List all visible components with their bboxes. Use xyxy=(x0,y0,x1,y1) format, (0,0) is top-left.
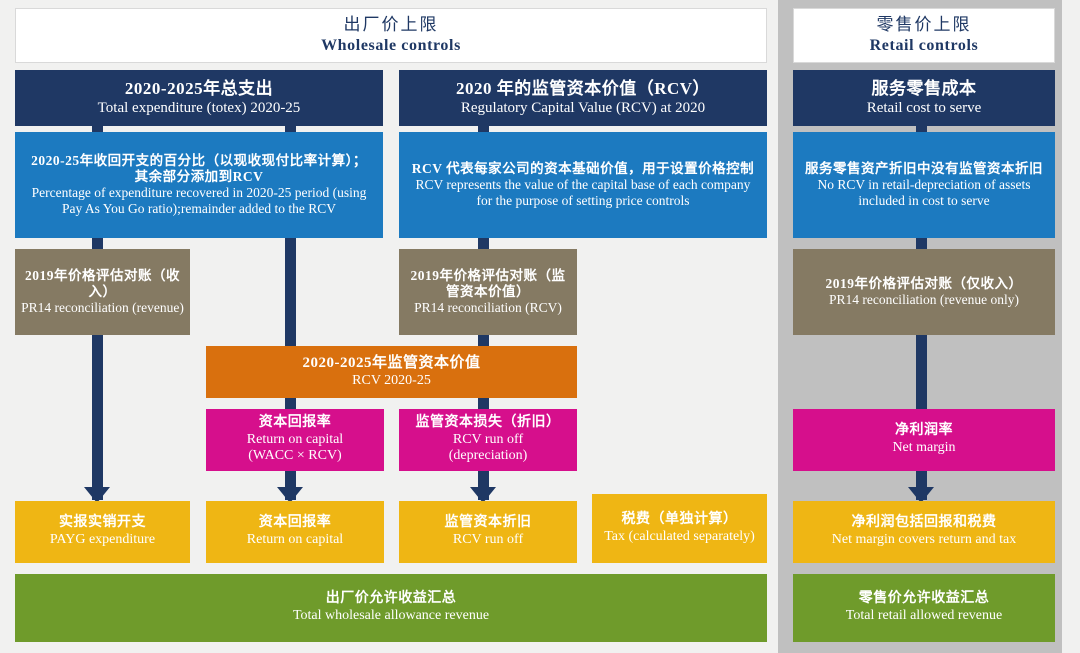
rcv-header-cn: 2020 年的监管资本价值（RCV） xyxy=(456,79,710,99)
tax-en: Tax (calculated separately) xyxy=(604,529,755,546)
rcv-description-box: RCV 代表每家公司的资本基础价值，用于设置价格控制 RCV represent… xyxy=(399,132,767,238)
totex-header-cn: 2020-2025年总支出 xyxy=(125,79,273,99)
retail-cost-description-cn: 服务零售资产折旧中没有监管资本折旧 xyxy=(805,161,1043,177)
rcv-run-off-output-cn: 监管资本折旧 xyxy=(445,515,532,532)
return-on-capital-en: Return on capital xyxy=(247,432,343,449)
net-margin-box: 净利润率 Net margin xyxy=(793,409,1055,471)
total-wholesale-revenue-cn: 出厂价允许收益汇总 xyxy=(326,591,457,608)
rcv-description-en: RCV represents the value of the capital … xyxy=(411,177,755,209)
net-margin-output-cn: 净利润包括回报和税费 xyxy=(852,515,997,532)
tax-box: 税费（单独计算） Tax (calculated separately) xyxy=(592,494,767,563)
total-retail-revenue-cn: 零售价允许收益汇总 xyxy=(859,591,990,608)
total-retail-revenue-box: 零售价允许收益汇总 Total retail allowed revenue xyxy=(793,574,1055,642)
total-retail-revenue-en: Total retail allowed revenue xyxy=(846,608,1002,625)
retail-pr14-en: PR14 reconciliation (revenue only) xyxy=(829,292,1019,308)
rcv-run-off-output-box: 监管资本折旧 RCV run off xyxy=(399,501,577,563)
totex-header-en: Total expenditure (totex) 2020-25 xyxy=(98,100,301,118)
wholesale-title-card: 出厂价上限 Wholesale controls xyxy=(15,8,767,63)
retail-title-en: Retail controls xyxy=(870,37,979,56)
pr14-rcv-cn: 2019年价格评估对账（监管资本价值） xyxy=(405,268,571,300)
total-wholesale-revenue-box: 出厂价允许收益汇总 Total wholesale allowance reve… xyxy=(15,574,767,642)
return-on-capital-box: 资本回报率 Return on capital (WACC × RCV) xyxy=(206,409,384,471)
total-wholesale-revenue-en: Total wholesale allowance revenue xyxy=(293,608,489,625)
rcv-run-off-cn: 监管资本损失（折旧） xyxy=(416,415,561,432)
retail-cost-description-box: 服务零售资产折旧中没有监管资本折旧 No RCV in retail-depre… xyxy=(793,132,1055,238)
totex-header-box: 2020-2025年总支出 Total expenditure (totex) … xyxy=(15,70,383,126)
totex-description-cn: 2020-25年收回开支的百分比（以现收现付比率计算）；其余部分添加到RCV xyxy=(25,153,373,185)
rcv-run-off-note: (depreciation) xyxy=(449,448,528,465)
pr14-rcv-en: PR14 reconciliation (RCV) xyxy=(414,300,562,316)
wholesale-title-cn: 出厂价上限 xyxy=(344,15,439,35)
rcv-2020-25-en: RCV 2020-25 xyxy=(352,373,431,390)
return-on-capital-output-en: Return on capital xyxy=(247,532,343,549)
retail-title-cn: 零售价上限 xyxy=(877,15,972,35)
net-margin-en: Net margin xyxy=(892,440,955,457)
rcv-header-en: Regulatory Capital Value (RCV) at 2020 xyxy=(461,100,705,118)
payg-expenditure-box: 实报实销开支 PAYG expenditure xyxy=(15,501,190,563)
right-margin-strip xyxy=(1062,0,1080,653)
net-margin-cn: 净利润率 xyxy=(895,423,953,440)
totex-description-en: Percentage of expenditure recovered in 2… xyxy=(25,185,373,217)
retail-title-card: 零售价上限 Retail controls xyxy=(793,8,1055,63)
tax-cn: 税费（单独计算） xyxy=(622,512,738,529)
diagram-canvas: 出厂价上限 Wholesale controls 2020-2025年总支出 T… xyxy=(0,0,1080,653)
pr14-revenue-box: 2019年价格评估对账（收入） PR14 reconciliation (rev… xyxy=(15,249,190,335)
net-margin-output-box: 净利润包括回报和税费 Net margin covers return and … xyxy=(793,501,1055,563)
retail-cost-description-en: No RCV in retail-depreciation of assets … xyxy=(803,177,1045,209)
retail-pr14-box: 2019年价格评估对账（仅收入） PR14 reconciliation (re… xyxy=(793,249,1055,335)
return-on-capital-output-cn: 资本回报率 xyxy=(259,515,332,532)
retail-cost-header-cn: 服务零售成本 xyxy=(872,79,977,99)
rcv-run-off-output-en: RCV run off xyxy=(453,532,523,549)
pr14-revenue-cn: 2019年价格评估对账（收入） xyxy=(21,268,184,300)
rcv-description-cn: RCV 代表每家公司的资本基础价值，用于设置价格控制 xyxy=(412,161,754,177)
rcv-2020-25-box: 2020-2025年监管资本价值 RCV 2020-25 xyxy=(206,346,577,398)
payg-expenditure-en: PAYG expenditure xyxy=(50,532,155,549)
pr14-revenue-en: PR14 reconciliation (revenue) xyxy=(21,300,184,316)
return-on-capital-formula: (WACC × RCV) xyxy=(248,448,341,465)
rcv-2020-25-cn: 2020-2025年监管资本价值 xyxy=(303,355,481,373)
rcv-run-off-en: RCV run off xyxy=(453,432,523,449)
retail-cost-header-en: Retail cost to serve xyxy=(867,100,982,118)
net-margin-output-en: Net margin covers return and tax xyxy=(832,532,1016,549)
wholesale-title-en: Wholesale controls xyxy=(321,37,461,56)
retail-cost-header-box: 服务零售成本 Retail cost to serve xyxy=(793,70,1055,126)
totex-description-box: 2020-25年收回开支的百分比（以现收现付比率计算）；其余部分添加到RCV P… xyxy=(15,132,383,238)
payg-expenditure-cn: 实报实销开支 xyxy=(59,515,146,532)
rcv-header-box: 2020 年的监管资本价值（RCV） Regulatory Capital Va… xyxy=(399,70,767,126)
return-on-capital-output-box: 资本回报率 Return on capital xyxy=(206,501,384,563)
pr14-rcv-box: 2019年价格评估对账（监管资本价值） PR14 reconciliation … xyxy=(399,249,577,335)
return-on-capital-cn: 资本回报率 xyxy=(259,415,332,432)
rcv-run-off-box: 监管资本损失（折旧） RCV run off (depreciation) xyxy=(399,409,577,471)
retail-pr14-cn: 2019年价格评估对账（仅收入） xyxy=(826,276,1023,292)
